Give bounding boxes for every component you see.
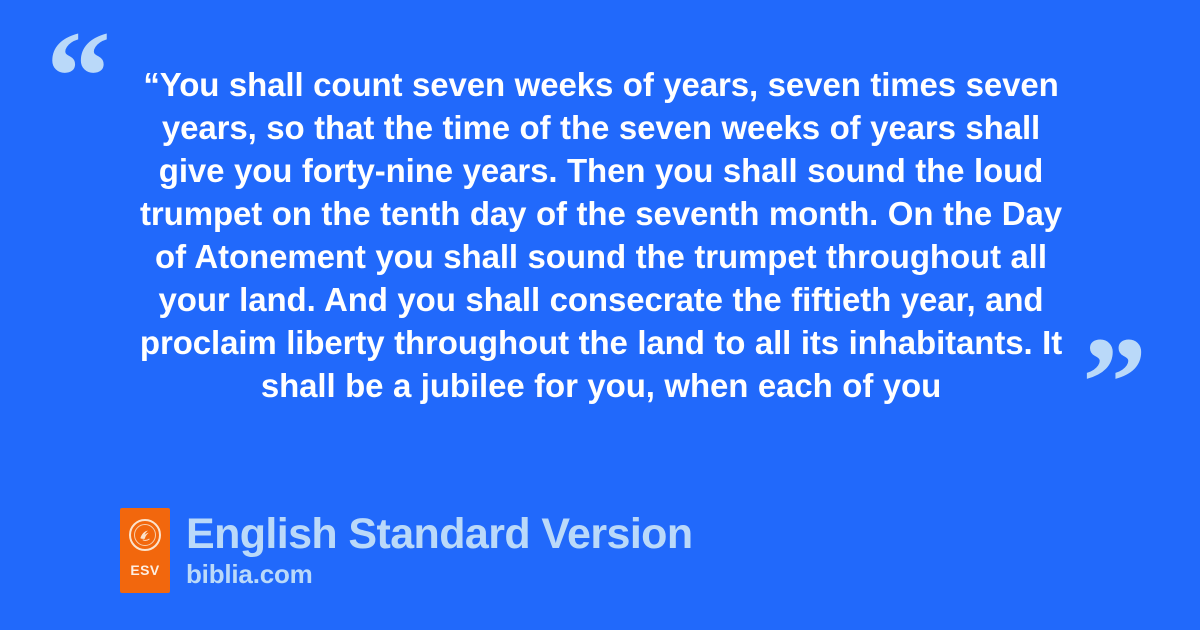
quote-card: “ “You shall count seven weeks of years,… (0, 0, 1200, 630)
closing-quote-icon: ” (1082, 318, 1147, 448)
esv-logo: ESV (120, 508, 170, 593)
esv-seal-icon (129, 519, 161, 551)
opening-quote-icon: “ (46, 12, 111, 142)
brand-url: biblia.com (186, 559, 693, 589)
brand-footer: ESV English Standard Version biblia.com (120, 508, 693, 593)
esv-logo-abbr: ESV (130, 563, 159, 577)
quote-text: “You shall count seven weeks of years, s… (125, 64, 1077, 408)
brand-text-block: English Standard Version biblia.com (186, 508, 693, 589)
brand-title: English Standard Version (186, 510, 693, 558)
